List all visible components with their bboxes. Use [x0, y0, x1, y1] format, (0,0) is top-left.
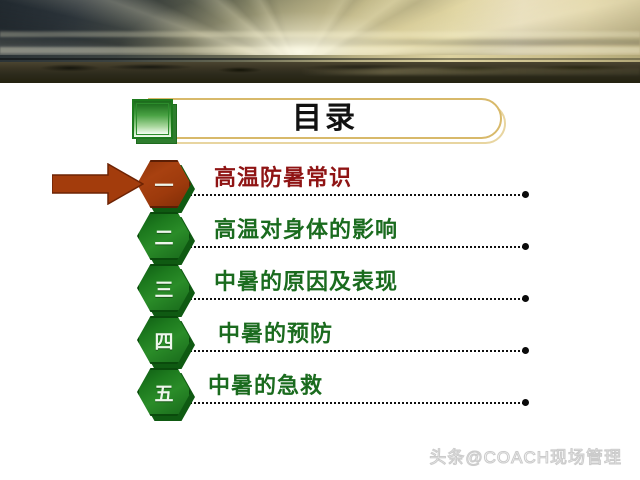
toc-leader-end-dot — [522, 191, 529, 198]
toc-leader-line — [166, 246, 524, 248]
toc-marker-number: 四 — [154, 327, 173, 354]
header-banner-image — [0, 0, 640, 83]
toc-marker-number: 二 — [154, 223, 173, 250]
toc-marker-number: 三 — [154, 275, 173, 302]
horizon-line — [0, 58, 640, 60]
toc-leader-end-dot — [522, 399, 529, 406]
toc-marker-number: 一 — [154, 171, 173, 198]
toc-item-label[interactable]: 高温对身体的影响 — [214, 212, 398, 244]
slide-title-bar: 目录 — [128, 94, 506, 143]
toc-item-3[interactable]: 三中暑的原因及表现 — [0, 254, 640, 306]
toc-item-2[interactable]: 二高温对身体的影响 — [0, 202, 640, 254]
toc-leader-end-dot — [522, 295, 529, 302]
toc-item-5[interactable]: 五中暑的急救 — [0, 358, 640, 410]
active-item-arrow — [52, 163, 144, 205]
toc-leader-line — [166, 402, 524, 404]
watermark-text: 头条@COACH现场管理 — [429, 443, 622, 468]
toc-marker-number: 五 — [154, 379, 173, 406]
title-square-inner — [136, 103, 169, 135]
page-title: 目录 — [148, 98, 502, 139]
toc-leader-end-dot — [522, 347, 529, 354]
arrow-right-icon — [52, 163, 144, 205]
toc-leader-line — [166, 194, 524, 196]
shore-highlight — [300, 68, 640, 75]
toc-item-4[interactable]: 四中暑的预防 — [0, 306, 640, 358]
title-square-decoration — [132, 99, 173, 139]
toc-item-label[interactable]: 中暑的急救 — [208, 368, 323, 400]
toc-item-label[interactable]: 高温防暑常识 — [214, 160, 352, 192]
toc-leader-line — [166, 350, 524, 352]
toc-leader-end-dot — [522, 243, 529, 250]
toc-item-label[interactable]: 中暑的预防 — [218, 316, 333, 348]
toc-leader-line — [166, 298, 524, 300]
toc-item-label[interactable]: 中暑的原因及表现 — [214, 264, 398, 296]
